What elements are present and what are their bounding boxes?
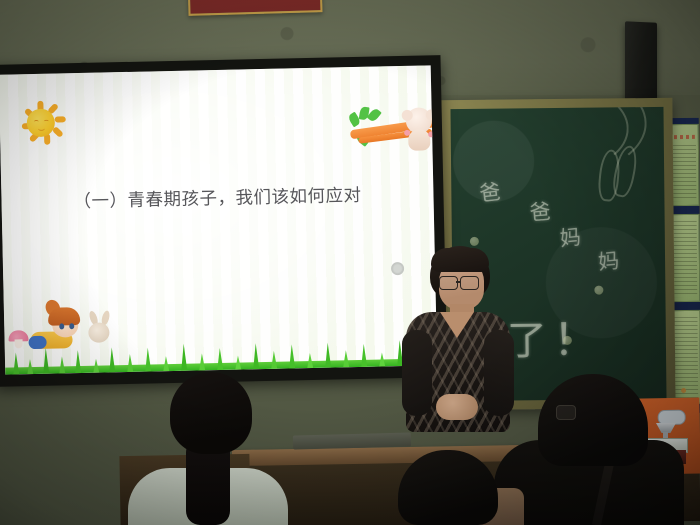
projection-screen-frame: （一）青春期孩子，我们该如何应对 [0, 55, 447, 387]
projection-screen[interactable]: （一）青春期孩子，我们该如何应对 [0, 65, 437, 374]
mushroom-stem [15, 339, 23, 348]
poster-1 [670, 124, 700, 206]
presenter-clasped-hands [436, 394, 478, 420]
chalk-char-1: 爸 [478, 176, 502, 208]
presenter-vneck [440, 312, 474, 338]
chalk-char-2: 爸 [528, 195, 551, 227]
sun-icon [13, 95, 68, 150]
glasses-bridge [456, 281, 461, 283]
teacher-presenter [392, 246, 520, 466]
glasses-icon [439, 276, 458, 290]
presenter-arm-right [484, 330, 514, 416]
poster-3 [671, 310, 700, 404]
poster-text-lines [673, 145, 696, 201]
classroom-scene: 爸 爸 妈 妈 了 ！ [0, 0, 700, 525]
poster-text-lines [674, 221, 698, 297]
audience-ponytail-head [170, 372, 252, 454]
chalk-feather-1 [597, 149, 622, 203]
poster-2 [671, 214, 700, 302]
cartoon-girl-icon [26, 300, 113, 356]
poster-text-lines [674, 317, 698, 399]
glasses-icon [556, 405, 576, 420]
board-magnet-2 [594, 286, 603, 295]
chalk-char-4: 妈 [597, 245, 621, 277]
board-magnet-3 [563, 336, 572, 345]
chalk-arc-inner [512, 107, 629, 171]
bunny-icon [88, 322, 109, 342]
poster-wave-decoration [674, 135, 695, 139]
glasses-icon [460, 276, 479, 290]
presenter-arm-left [402, 330, 432, 416]
chalk-char-3: 妈 [558, 221, 582, 253]
board-magnet-1 [470, 237, 479, 246]
presenter-fringe [431, 248, 489, 272]
poster-seal-icon [681, 388, 686, 393]
tree-branch-icon [350, 105, 437, 159]
chalk-feather-2 [610, 144, 640, 199]
chalk-arc-outer [492, 107, 647, 175]
cabinet-label [658, 410, 686, 425]
chalk-char-6: ！ [553, 304, 598, 368]
